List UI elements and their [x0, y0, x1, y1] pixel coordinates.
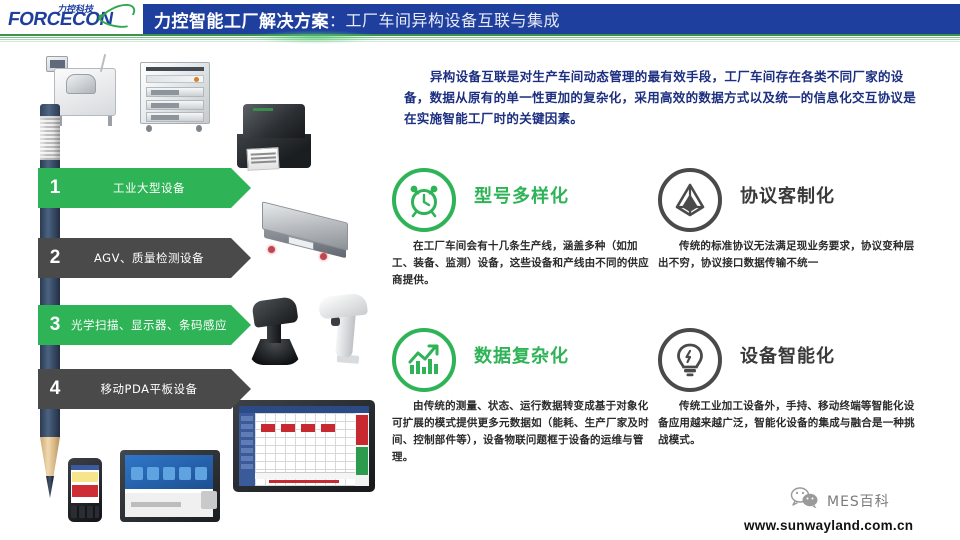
bar-chart-icon: [392, 328, 456, 392]
step-label-3: 光学扫描、显示器、条码感应: [69, 317, 251, 333]
step-number-4: 4: [41, 378, 69, 400]
step-arrow-1[interactable]: 1 工业大型设备: [38, 168, 251, 208]
step-arrow-3[interactable]: 3 光学扫描、显示器、条码感应: [38, 305, 251, 345]
feature-card-data-complexity: 数据复杂化 由传统的测量、状态、运行数据转变成基于对象化可扩展的模式提供更多元数…: [392, 328, 652, 466]
pos-tablet-photo: [233, 400, 375, 492]
feature-header: 设备智能化: [658, 328, 918, 398]
step-number-1: 1: [41, 177, 69, 199]
step-label-1: 工业大型设备: [69, 180, 251, 196]
lightbulb-icon: [658, 328, 722, 392]
barcode-scanner-white-photo: [317, 295, 373, 371]
feature-title: 设备智能化: [740, 342, 835, 368]
feature-title: 型号多样化: [474, 182, 569, 208]
tablet-device-photo: [120, 450, 220, 522]
step-number-3: 3: [41, 314, 69, 336]
feature-header: 协议客制化: [658, 168, 918, 238]
header-divider-rules: [0, 34, 960, 43]
feature-card-model-diversity: 型号多样化 在工厂车间会有十几条生产线，涵盖多种（如加工、装备、监测）设备，这些…: [392, 168, 652, 289]
footer-website-url[interactable]: www.sunwayland.com.cn: [744, 518, 913, 533]
pencil-tip: [46, 476, 54, 498]
agv-vehicle-photo: [262, 206, 354, 262]
pencil-eraser: [40, 104, 60, 116]
pen-nib-icon: [658, 168, 722, 232]
step-label-2: AGV、质量检测设备: [69, 250, 251, 266]
pencil-ferrule: [40, 116, 60, 160]
barcode-scanner-black-photo: [247, 299, 303, 371]
label-printer-photo: [237, 104, 311, 172]
wechat-icon: [790, 486, 820, 515]
step-number-2: 2: [41, 247, 69, 269]
step-arrow-2[interactable]: 2 AGV、质量检测设备: [38, 238, 251, 278]
feature-card-device-intelligence: 设备智能化 传统工业加工设备外，手持、移动终端等智能化设备应用越来越广泛，智能化…: [658, 328, 918, 449]
intro-paragraph: 异构设备互联是对生产车间动态管理的最有效手段，工厂车间存在各类不同厂家的设备，数…: [404, 66, 928, 129]
company-logo[interactable]: 力控科技 FORCECON: [0, 0, 143, 34]
slide-title-sub: ：工厂车间异构设备互联与集成: [329, 7, 560, 31]
page-header: 力控科技 FORCECON 力控智能工厂解决方案 ：工厂车间异构设备互联与集成: [0, 0, 960, 34]
step-label-4: 移动PDA平板设备: [69, 381, 251, 397]
feature-body-text: 传统工业加工设备外，手持、移动终端等智能化设备应用越来越广泛，智能化设备的集成与…: [658, 398, 916, 449]
slide-title-main: 力控智能工厂解决方案: [154, 7, 329, 32]
wechat-account-name: MES百科: [827, 491, 890, 511]
wechat-account-badge: MES百科: [790, 486, 890, 515]
feature-title: 数据复杂化: [474, 342, 569, 368]
header-glow-accent: [250, 30, 380, 44]
feature-body-text: 传统的标准协议无法满足现业务要求，协议变种层出不穷，协议接口数据传输不统一: [658, 238, 916, 272]
feature-card-protocol-custom: 协议客制化 传统的标准协议无法满足现业务要求，协议变种层出不穷，协议接口数据传输…: [658, 168, 918, 272]
alarm-clock-icon: [392, 168, 456, 232]
feature-header: 型号多样化: [392, 168, 652, 238]
step-arrow-4[interactable]: 4 移动PDA平板设备: [38, 369, 251, 409]
pda-handheld-photo: [68, 458, 102, 522]
power-cabinet-photo: [140, 62, 210, 132]
pencil-graphic: [36, 104, 64, 504]
feature-body-text: 由传统的测量、状态、运行数据转变成基于对象化可扩展的模式提供更多元数据如（能耗、…: [392, 398, 650, 466]
feature-body-text: 在工厂车间会有十几条生产线，涵盖多种（如加工、装备、监测）设备，这些设备和产线由…: [392, 238, 650, 289]
feature-header: 数据复杂化: [392, 328, 652, 398]
feature-title: 协议客制化: [740, 182, 835, 208]
